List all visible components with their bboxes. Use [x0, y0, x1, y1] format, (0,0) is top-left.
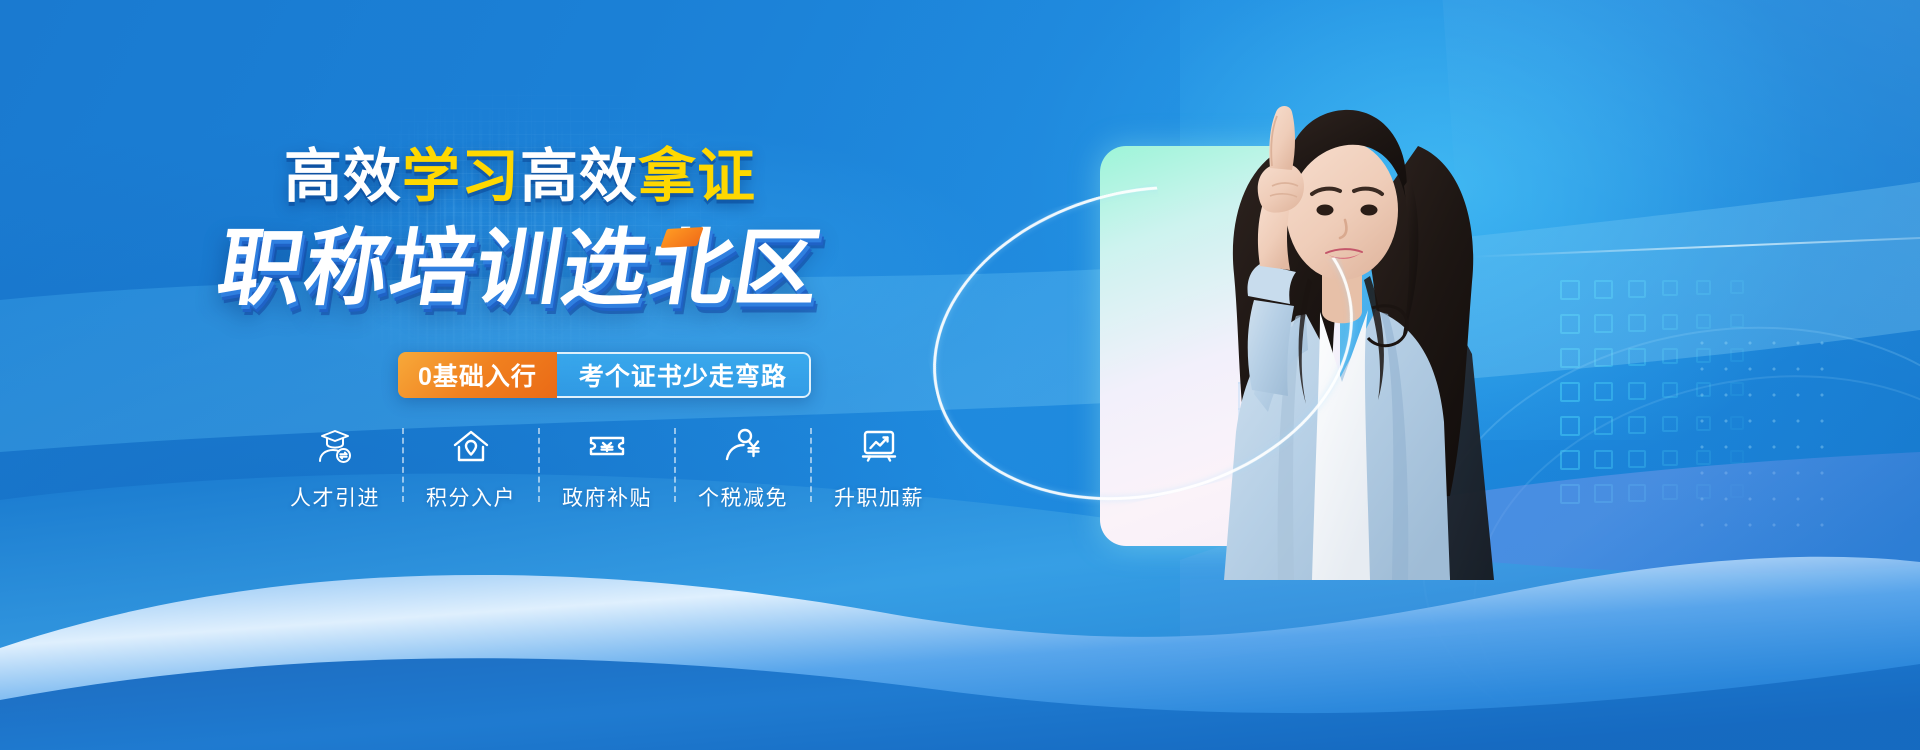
feature-label: 政府补贴	[562, 482, 652, 512]
person-yuan-icon	[721, 424, 765, 468]
graduate-person-icon	[313, 424, 357, 468]
ticket-yuan-icon	[585, 424, 629, 468]
feature-item[interactable]: 积分入户	[404, 424, 538, 512]
promo-banner: 高效学习高效拿证 职称培训选北区 0基础入行 考个证书少走弯路 人才引进	[0, 0, 1920, 750]
headline-seg-2: 学习	[402, 144, 520, 209]
feature-label: 升职加薪	[834, 482, 924, 512]
feature-item[interactable]: 人才引进	[268, 424, 402, 512]
headline-line-2: 职称培训选北区	[211, 220, 828, 316]
home-location-icon	[449, 424, 493, 468]
feature-item[interactable]: 政府补贴	[540, 424, 674, 512]
headline-seg-3: 高效	[520, 144, 638, 209]
growth-chart-board-icon	[857, 424, 901, 468]
feature-item[interactable]: 升职加薪	[812, 424, 946, 512]
cta-pill[interactable]: 0基础入行 考个证书少走弯路	[398, 352, 811, 398]
person-photo	[1020, 60, 1580, 580]
cta-badge[interactable]: 0基础入行	[398, 352, 557, 398]
headline-line-2-wrap: 职称培训选北区	[0, 220, 1040, 316]
feature-list: 人才引进 积分入户 政府补贴	[268, 424, 946, 512]
feature-label: 个税减免	[698, 482, 788, 512]
orange-accent-mark-icon	[660, 227, 703, 248]
feature-label: 人才引进	[290, 482, 380, 512]
headline-line-1: 高效学习高效拿证	[0, 148, 1040, 206]
cta-tagline[interactable]: 考个证书少走弯路	[557, 352, 811, 398]
headline-seg-1: 高效	[284, 144, 402, 209]
feature-label: 积分入户	[426, 482, 516, 512]
headline-block: 高效学习高效拿证 职称培训选北区	[0, 148, 1040, 316]
feature-item[interactable]: 个税减免	[676, 424, 810, 512]
headline-seg-4: 拿证	[638, 144, 756, 209]
